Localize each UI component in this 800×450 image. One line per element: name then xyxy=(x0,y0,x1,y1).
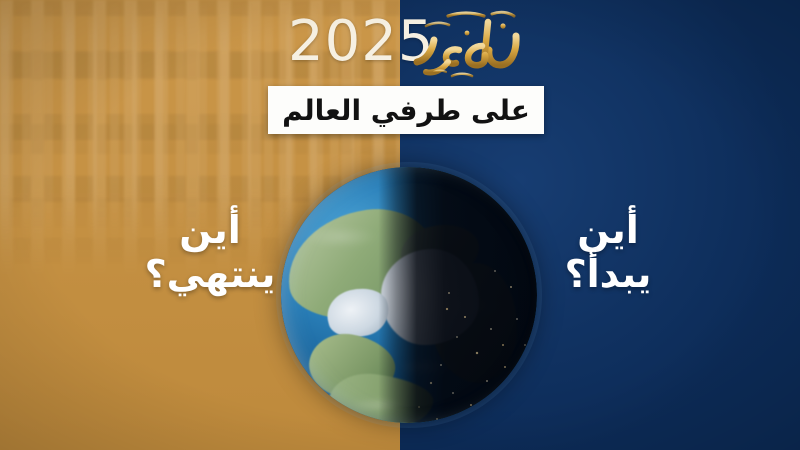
subtitle-banner-text: على طرفي العالم xyxy=(282,94,530,127)
globe-limb-shading xyxy=(281,167,537,423)
question-right: أين يبدأ؟ xyxy=(528,208,688,296)
subtitle-banner: على طرفي العالم xyxy=(268,86,544,134)
globe-sphere xyxy=(281,167,537,423)
title-card: 2025 xyxy=(0,0,800,450)
ramadan-calligraphy xyxy=(404,2,534,86)
earth-globe xyxy=(281,167,537,423)
question-left: أين ينتهي؟ xyxy=(130,208,290,296)
